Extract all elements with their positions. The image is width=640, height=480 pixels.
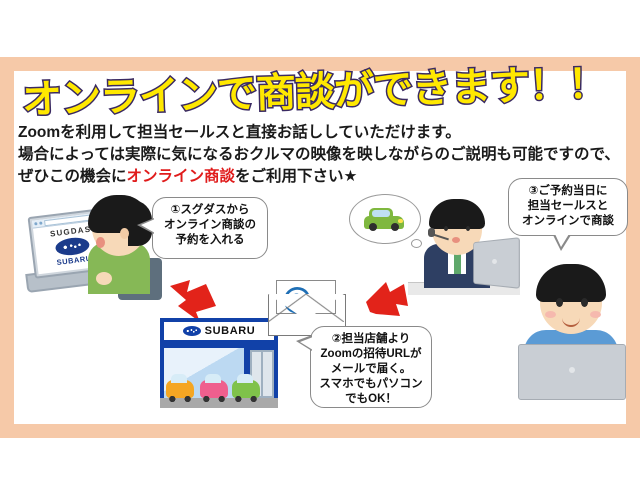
sales-rep-mouth [452, 237, 460, 243]
body-line-3-before: ぜひこの機会に [18, 168, 127, 185]
callout-step-3-line-3: オンラインで商談 [513, 214, 623, 229]
callout-step-3: ③ご予約当日に 担当セールスと オンラインで商談 [508, 178, 628, 236]
banner-root: オンラインで商談ができます！！ Zoomを利用して担当セールスと直接お話ししてい… [0, 0, 640, 480]
body-line-1: Zoomを利用して担当セールスと直接お話ししていただけます。 [18, 122, 618, 144]
customer-left-ear [120, 228, 129, 239]
arrow-down-right-icon [166, 276, 222, 324]
callout-step-1-line-1: ①スグダスから [157, 203, 263, 218]
subaru-logo-icon [183, 326, 201, 336]
callout-step-2-line-3: メールで届く。 [315, 362, 427, 377]
car-orange [166, 380, 194, 398]
green-car-icon [364, 208, 404, 228]
dealership-illustration: SUBARU [160, 318, 278, 410]
callout-step-2-line-5: でもOK！ [315, 392, 427, 407]
body-line-3-accent: オンライン商談 [127, 168, 236, 185]
callout-step-2-line-1: ②担当店舗より [315, 332, 427, 347]
callout-step-3-line-2: 担当セールスと [513, 199, 623, 214]
customer-left-mouth [96, 237, 105, 248]
sales-rep-laptop [473, 237, 520, 289]
body-line-2: 場合によっては実際に気になるおクルマの映像を映しながらのご説明も可能ですので、 [18, 144, 618, 166]
callout-step-2-line-2: Zoomの招待URLが [315, 347, 427, 362]
car-pink [200, 380, 228, 398]
dealership-sign: SUBARU [160, 318, 278, 344]
customer-right-laptop [518, 344, 626, 400]
callout-step-1-line-2: オンライン商談の [157, 218, 263, 233]
callout-step-2-line-4: スマホでもパソコン [315, 377, 427, 392]
car-green [232, 380, 260, 398]
body-line-3-after: をご利用下さい★ [235, 168, 357, 185]
arrow-up-right-icon [360, 280, 412, 330]
callout-step-1-line-3: 予約を入れる [157, 233, 263, 248]
callout-step-3-line-1: ③ご予約当日に [513, 184, 623, 199]
callout-step-2: ②担当店舗より Zoomの招待URLが メールで届く。 スマホでもパソコン でも… [310, 326, 432, 408]
callout-step-1: ①スグダスから オンライン商談の 予約を入れる [152, 197, 268, 259]
dealership-sign-text: SUBARU [205, 325, 256, 337]
customer-left-hand [96, 272, 112, 285]
